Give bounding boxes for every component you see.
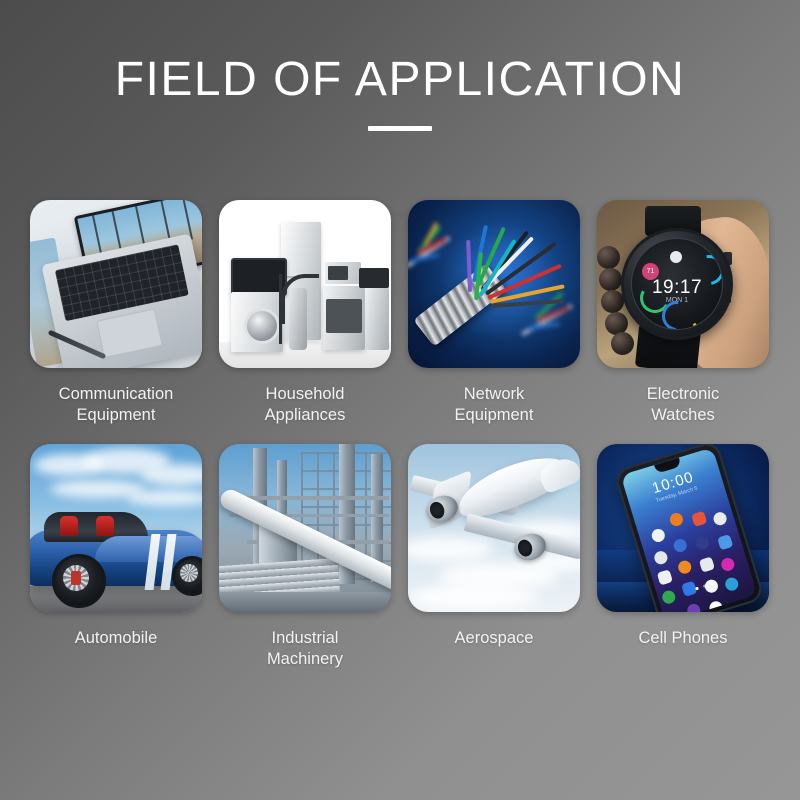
caption-aerospace: Aerospace (408, 628, 580, 649)
screen-notch (654, 458, 681, 474)
bracelet-bead (611, 332, 634, 355)
grid-item-network-equipment[interactable]: Network Equipment (408, 200, 580, 426)
app-icon (694, 535, 710, 551)
laptop (359, 268, 389, 288)
caption-communication-equipment: Communication Equipment (30, 384, 202, 426)
grid-item-household-appliances[interactable]: Household Appliances (219, 200, 391, 426)
page-title: FIELD OF APPLICATION (0, 56, 800, 104)
grid-item-automobile[interactable]: Automobile (30, 444, 202, 670)
header: FIELD OF APPLICATION (0, 56, 800, 131)
grid-item-cell-phones[interactable]: 10:00 Tuesday, March 5 (597, 444, 769, 670)
car-wheel-front (52, 554, 106, 608)
fiber-optic-cable-image (408, 200, 580, 368)
caption-household-appliances: Household Appliances (219, 384, 391, 426)
bracelet-bead (597, 246, 620, 269)
cloud (408, 536, 494, 562)
dishwasher (365, 288, 389, 350)
weather-widget (670, 251, 682, 263)
application-poster: FIELD OF APPLICATION (0, 0, 800, 800)
caption-industrial-machinery: Industrial Machinery (219, 628, 391, 670)
app-icon (657, 569, 673, 585)
industrial-plant-image (219, 444, 391, 612)
smartphone-image: 10:00 Tuesday, March 5 (597, 444, 769, 612)
car-seat (60, 516, 78, 536)
bracelet-bead (599, 268, 622, 291)
app-icon (708, 600, 724, 612)
watch-face: 19:17 MON 1 71 (631, 238, 723, 330)
grid-item-aerospace[interactable]: Aerospace (408, 444, 580, 670)
microwave-oven (325, 262, 361, 284)
vacuum-cleaner (289, 288, 307, 350)
home-appliance-group-image (219, 200, 391, 368)
airplane-image (408, 444, 580, 612)
laptop-computer-image (30, 200, 202, 368)
watch-case: 19:17 MON 1 71 (621, 228, 733, 340)
app-icon (661, 589, 677, 605)
laptop-trackpad (96, 308, 163, 358)
washer-door (244, 308, 280, 344)
grid-item-industrial-machinery[interactable]: Industrial Machinery (219, 444, 391, 670)
caption-automobile: Automobile (30, 628, 202, 649)
app-icon (691, 511, 707, 527)
app-icon (653, 550, 669, 566)
app-icon (699, 556, 715, 572)
background-cable-left (408, 230, 466, 284)
app-icon (677, 559, 693, 575)
app-icon (672, 537, 688, 553)
caption-cell-phones: Cell Phones (597, 628, 769, 649)
application-grid: Communication Equipment Household Ap (30, 200, 770, 670)
grid-item-electronic-watches[interactable]: 19:17 MON 1 71 Electronic Watches (597, 200, 769, 426)
stove-oven (323, 286, 365, 350)
app-icon (720, 556, 736, 572)
app-icon (686, 602, 702, 612)
smartwatch-image: 19:17 MON 1 71 (597, 200, 769, 368)
cloud (408, 584, 538, 610)
temperature-widget: 71 (642, 263, 659, 280)
grid-item-communication-equipment[interactable]: Communication Equipment (30, 200, 202, 426)
app-icon (717, 534, 733, 550)
app-icon (724, 576, 740, 592)
sports-car-image (30, 444, 202, 612)
cloud (140, 464, 202, 486)
title-divider (368, 126, 432, 131)
caption-network-equipment: Network Equipment (408, 384, 580, 426)
platform-deck (219, 592, 391, 612)
car-seat (96, 516, 114, 536)
brake-caliper (71, 571, 81, 585)
cloud (126, 490, 202, 506)
app-icon (650, 527, 666, 543)
bracelet-bead (601, 290, 624, 313)
caption-electronic-watches: Electronic Watches (597, 384, 769, 426)
horizontal-beam (239, 496, 389, 500)
wheel-rim (180, 564, 198, 582)
app-icon (668, 511, 684, 527)
washing-machine (231, 292, 283, 352)
app-icon (712, 511, 728, 527)
